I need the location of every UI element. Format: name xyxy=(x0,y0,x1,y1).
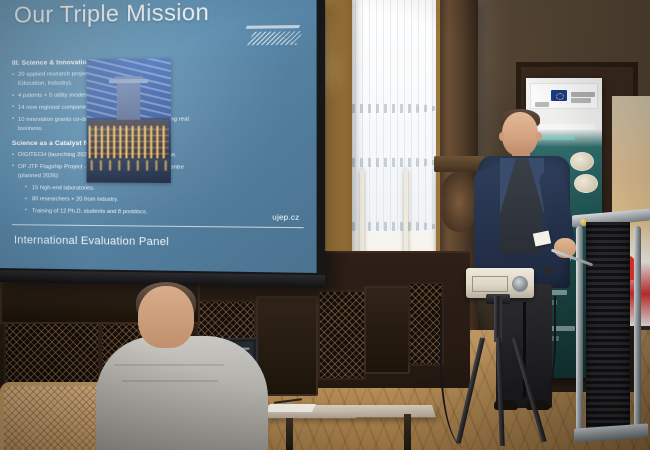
attendee-head xyxy=(138,286,194,348)
eu-flag-icon xyxy=(551,90,567,101)
shirt-fold xyxy=(114,364,224,366)
microphone-icon xyxy=(544,266,554,274)
presentation-slide: Our Triple Mission III. Science & Innova… xyxy=(0,0,317,273)
ujep-stripe-logo-icon xyxy=(242,24,302,47)
photo-building-lights xyxy=(89,126,169,161)
photo-tower-deck xyxy=(109,79,148,83)
eu-funding-header xyxy=(530,83,598,109)
lectern-chrome-rail xyxy=(634,226,641,430)
slide-url: ujep.cz xyxy=(272,212,299,222)
presenter-left-arm xyxy=(474,170,498,274)
lectern-chrome-rail xyxy=(576,226,583,430)
presentation-room-photo: Our Triple Mission III. Science & Innova… xyxy=(0,0,650,450)
wainscot-panel xyxy=(364,286,410,374)
attendee-shirt xyxy=(96,336,268,450)
photo-foreground-lights xyxy=(91,160,167,170)
slide-photo xyxy=(87,58,171,183)
radiator-cover-lattice xyxy=(408,282,444,366)
section-two-sub-bullet: 15 high-end laboratories. xyxy=(12,184,194,194)
window-mullion xyxy=(360,170,364,260)
section-two-sub-bullet: 80 researchers + 20 from industry. xyxy=(12,195,194,205)
tripod-column xyxy=(494,296,502,342)
banner-text-line xyxy=(571,92,595,97)
banner-text-line xyxy=(571,98,591,103)
table-leg xyxy=(404,414,411,450)
lectern-body xyxy=(586,222,630,428)
slide-title: Our Triple Mission xyxy=(14,0,209,29)
projection-screen: Our Triple Mission III. Science & Innova… xyxy=(0,0,325,286)
seated-attendee xyxy=(96,286,276,450)
presenter-ear xyxy=(536,132,542,141)
slide-footer: International Evaluation Panel xyxy=(14,234,169,248)
banner-text-line xyxy=(535,102,549,107)
presenter-ear xyxy=(499,132,505,141)
shirt-fold xyxy=(122,380,218,382)
section-two-sub-bullet: Training of 12 Ph.D. students and 8 post… xyxy=(12,207,194,218)
presenter-lapel xyxy=(500,158,516,214)
slide-divider xyxy=(12,224,304,228)
lectern xyxy=(572,212,650,450)
radiator-cover-lattice xyxy=(318,290,366,380)
projector-vent xyxy=(472,276,508,292)
projector-lens-icon xyxy=(512,276,528,292)
window-mullion xyxy=(404,170,408,260)
table-leg xyxy=(286,418,293,450)
